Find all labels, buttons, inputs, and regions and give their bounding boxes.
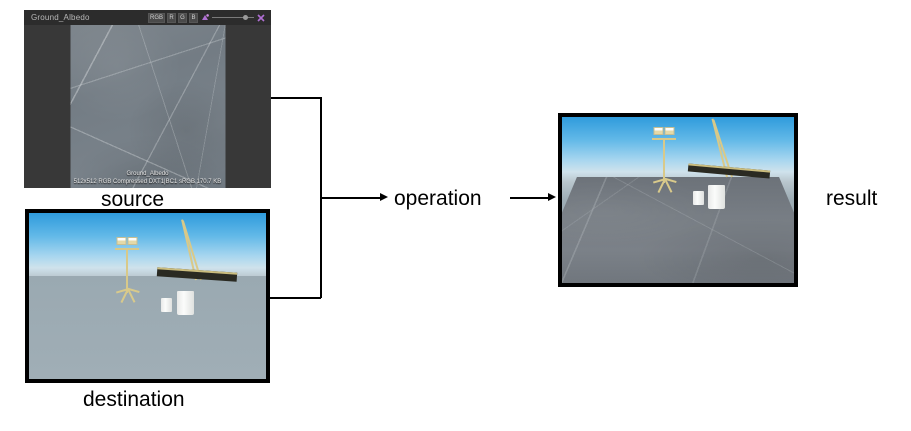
channel-g-button[interactable]: G bbox=[178, 13, 187, 23]
connector-to-operation bbox=[320, 197, 382, 199]
push-broom-prop bbox=[684, 117, 780, 189]
channel-b-button[interactable]: B bbox=[189, 13, 198, 23]
tower-mast bbox=[126, 248, 128, 293]
texture-preview-image: Ground_Albedo 512x512 RGB Compressed DXT… bbox=[70, 25, 225, 188]
arrow-head-to-result bbox=[548, 193, 556, 201]
push-broom-prop bbox=[155, 218, 245, 294]
result-scene bbox=[562, 117, 794, 283]
destination-caption: destination bbox=[83, 388, 185, 412]
light-tower-prop bbox=[644, 127, 684, 193]
texture-info-overlay: Ground_Albedo 512x512 RGB Compressed DXT… bbox=[70, 170, 225, 188]
close-icon[interactable] bbox=[256, 13, 266, 23]
large-bucket-prop bbox=[708, 185, 725, 209]
texture-info-name: Ground_Albedo bbox=[70, 170, 225, 178]
texture-info-details: 512x512 RGB Compressed DXT1|BC1 sRGB 170… bbox=[70, 178, 225, 186]
inspector-title: Ground_Albedo bbox=[31, 13, 90, 22]
inspector-titlebar: Ground_Albedo RGB R G B bbox=[24, 10, 271, 25]
tower-lamp-head bbox=[654, 127, 675, 135]
result-viewport bbox=[558, 113, 798, 287]
connector-source-line bbox=[271, 97, 321, 99]
source-texture-inspector: Ground_Albedo RGB R G B bbox=[24, 10, 271, 188]
mip-level-slider[interactable] bbox=[212, 13, 254, 23]
arrow-head-to-operation bbox=[380, 193, 388, 201]
tower-lamp-head bbox=[117, 237, 138, 245]
light-tower-prop bbox=[107, 237, 147, 303]
tower-mast bbox=[663, 138, 665, 183]
operation-label: operation bbox=[394, 187, 482, 211]
small-bucket-prop bbox=[693, 191, 704, 205]
destination-viewport bbox=[25, 209, 270, 383]
mipmap-icon[interactable] bbox=[200, 13, 210, 23]
small-bucket-prop bbox=[161, 298, 172, 312]
rgb-toggle-button[interactable]: RGB bbox=[148, 13, 165, 23]
result-caption: result bbox=[826, 187, 877, 211]
destination-scene bbox=[29, 213, 266, 379]
connector-destination-line bbox=[270, 297, 321, 299]
inspector-body: Ground_Albedo 512x512 RGB Compressed DXT… bbox=[24, 25, 271, 188]
channel-r-button[interactable]: R bbox=[167, 13, 176, 23]
inspector-toolbar: RGB R G B bbox=[148, 13, 271, 23]
large-bucket-prop bbox=[177, 291, 194, 315]
connector-to-result bbox=[510, 197, 550, 199]
